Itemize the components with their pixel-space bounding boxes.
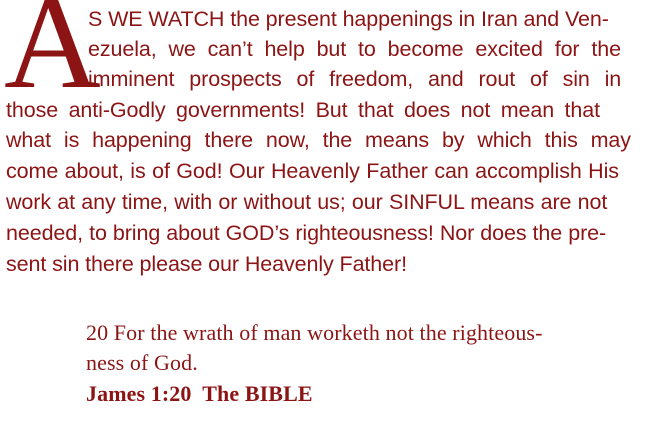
quote-line: ness of God. [86, 348, 646, 378]
paragraph-line: sent sin there please our Heavenly Fathe… [6, 249, 407, 279]
paragraph-line: work at any time, with or without us; ou… [6, 187, 607, 217]
document-page: A S WE WATCH the present happenings in I… [0, 0, 648, 427]
paragraph-line: what is happening there now, the means b… [6, 125, 631, 155]
drop-cap-letter: A [4, 0, 96, 98]
paragraph-line: S WE WATCH the present happenings in Ira… [88, 4, 609, 34]
quote-line: 20 For the wrath of man worketh not the … [86, 318, 646, 348]
paragraph-line: come about, is of God! Our Heavenly Fath… [6, 156, 619, 186]
paragraph-line: needed, to bring about GOD’s righteousne… [6, 218, 606, 248]
scripture-quote-block: 20 For the wrath of man worketh not the … [86, 318, 646, 409]
paragraph-line: those anti-Godly governments! But that d… [6, 95, 600, 125]
paragraph-line: imminent prospects of freedom, and rout … [88, 64, 621, 94]
paragraph-line: ezuela, we can’t help but to become exci… [88, 34, 621, 64]
quote-attribution: James 1:20 The BIBLE [86, 378, 646, 409]
